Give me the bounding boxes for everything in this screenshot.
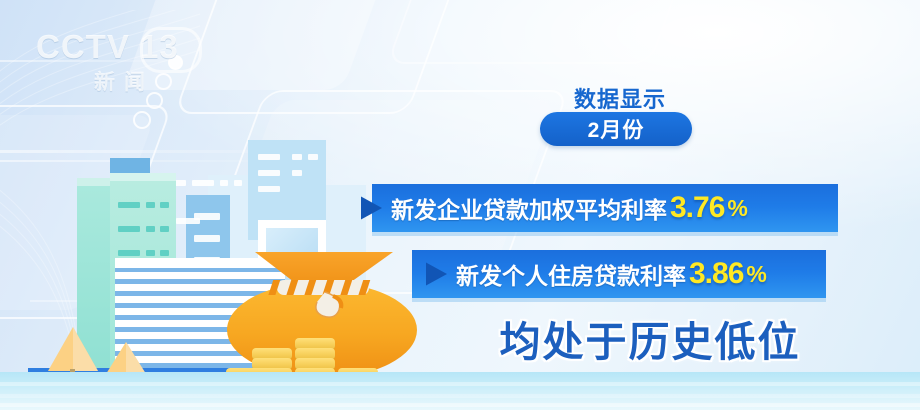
- stat-unit: %: [746, 261, 765, 288]
- stat-label: 新发企业贷款加权平均利率: [391, 191, 667, 225]
- play-arrow-icon: [423, 262, 448, 287]
- content-layer: 数据显示 2月份 新发企业贷款加权平均利率 3.76 % 新发个人住房贷款利率 …: [0, 0, 920, 410]
- stat-label: 新发个人住房贷款利率: [456, 257, 686, 291]
- month-badge: 2月份: [540, 112, 692, 146]
- kicker-text: 数据显示: [520, 82, 720, 114]
- month-badge-label: 2月份: [588, 114, 645, 144]
- broadcast-graphic: CCTV 13 新闻: [0, 0, 920, 410]
- stat-value: 3.76: [670, 191, 724, 225]
- play-arrow-icon: [358, 196, 383, 221]
- stat-unit: %: [727, 195, 746, 222]
- stat-bar-personal-housing-loan-rate: 新发个人住房贷款利率 3.86 %: [412, 250, 826, 298]
- conclusion-headline: 均处于历史低位: [470, 308, 830, 368]
- stat-value: 3.86: [689, 257, 743, 291]
- stat-bar-corporate-loan-rate: 新发企业贷款加权平均利率 3.76 %: [372, 184, 838, 232]
